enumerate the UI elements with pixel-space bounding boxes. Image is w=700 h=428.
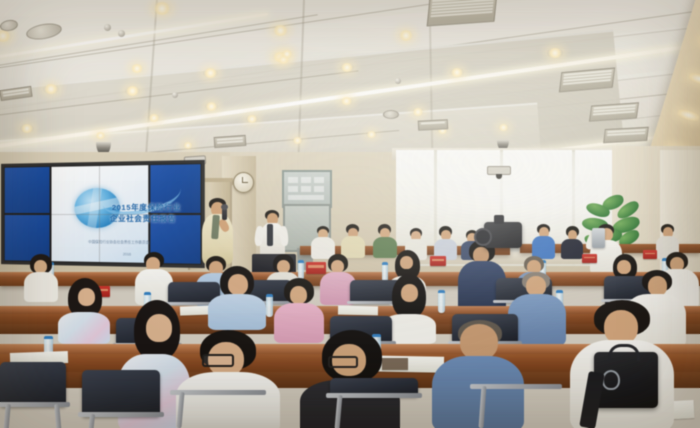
downlight <box>152 2 172 15</box>
audience-member <box>432 226 458 258</box>
downlight <box>43 84 59 94</box>
downlight <box>95 132 106 139</box>
downlight <box>0 30 12 42</box>
slide-title-line-1: 2015年度保险行业 <box>112 202 181 213</box>
necktie <box>267 224 273 246</box>
downlight <box>547 48 563 58</box>
video-wall-panel <box>4 166 51 214</box>
downlight <box>281 50 293 58</box>
audience-member <box>310 226 336 256</box>
downlight <box>340 97 353 105</box>
downlight <box>20 124 34 133</box>
slide-subtitle: 中国保险行业协会社会责任工作委员会 <box>88 240 149 246</box>
red-name-card <box>582 254 597 263</box>
ceiling-air-vent <box>214 135 247 148</box>
beam-downlight <box>677 108 700 123</box>
downlight <box>398 30 414 41</box>
downlight <box>183 142 193 149</box>
paper-handout <box>338 306 378 316</box>
sprinkler-head <box>104 24 111 31</box>
wall-camera-icon <box>487 166 511 175</box>
notice-board <box>282 170 332 208</box>
chair <box>0 362 66 428</box>
chair <box>82 370 160 428</box>
ceiling <box>0 0 700 172</box>
audience-member <box>56 278 112 340</box>
ceiling-speaker <box>25 21 63 42</box>
downlight <box>450 68 464 77</box>
downlight <box>412 108 424 116</box>
chair <box>330 378 418 428</box>
downlight <box>366 131 377 138</box>
wall-clock-icon <box>233 172 254 193</box>
sprinkler-head <box>118 30 125 37</box>
water-bottle <box>438 290 445 313</box>
video-camera <box>484 222 522 248</box>
video-wall-slide: 2015年度保险行业 企业社会责任报告 中国保险行业协会社会责任工作委员会 20… <box>51 164 150 264</box>
audience-member <box>530 224 556 258</box>
downlight <box>292 137 303 144</box>
downlight <box>148 114 160 122</box>
chair <box>470 384 562 428</box>
eyeglasses <box>202 354 234 367</box>
audience-member <box>206 266 268 326</box>
ceiling-speaker <box>0 19 19 33</box>
downlight <box>125 86 140 96</box>
ceiling-air-vent <box>418 119 448 131</box>
smartphone-camera <box>592 228 605 248</box>
downlight <box>340 63 354 72</box>
handheld-microphone <box>222 208 227 220</box>
audience-member <box>560 226 584 258</box>
audience-member <box>340 224 366 256</box>
audience-member <box>22 254 60 300</box>
slide-footer: 2016 <box>123 252 131 256</box>
downlight <box>130 64 144 73</box>
video-wall-bezel <box>51 214 148 215</box>
chair <box>170 390 266 428</box>
ceiling-speaker <box>383 110 399 119</box>
conference-room-photo: 2015年度保险行业 企业社会责任报告 中国保险行业协会社会责任工作委员会 20… <box>0 0 700 428</box>
beam-downlight <box>688 71 700 86</box>
downlight <box>203 68 218 78</box>
ceiling-air-vent <box>603 127 649 143</box>
downlight <box>272 25 289 36</box>
sprinkler-head <box>172 92 178 98</box>
red-name-card <box>430 256 446 266</box>
sprinkler-head <box>395 78 401 84</box>
downlight <box>246 115 258 123</box>
downlight <box>498 124 509 131</box>
downlight <box>205 102 218 111</box>
eyeglasses <box>328 356 358 368</box>
